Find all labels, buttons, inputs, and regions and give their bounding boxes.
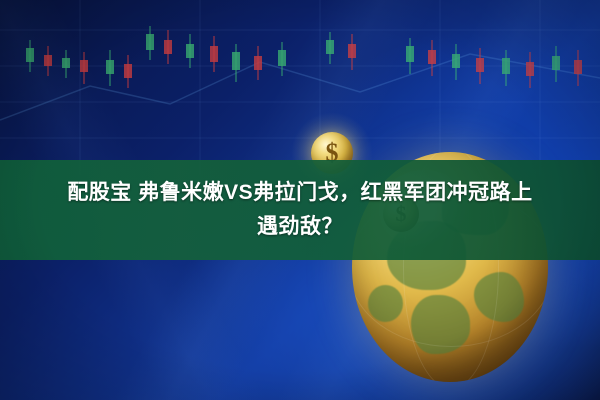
promo-banner-image: $ $ 配股宝 弗鲁米嫩VS弗拉门戈，红黑军团冲冠路上 遇劲敌？ xyxy=(0,0,600,400)
vignette-overlay xyxy=(0,0,600,400)
